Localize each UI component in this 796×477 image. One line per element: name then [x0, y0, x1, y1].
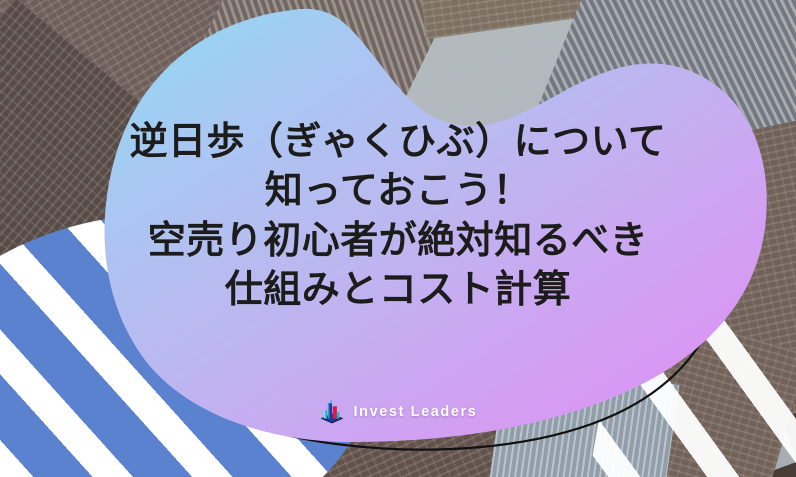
- page-title: 逆日歩（ぎゃくひぶ）について 知っておこう！ 空売り初心者が絶対知るべき 仕組み…: [0, 118, 796, 316]
- brand-name: Invest Leaders: [354, 404, 478, 420]
- headline-line-3: 空売り初心者が絶対知るべき: [40, 217, 756, 266]
- thumbnail-canvas: 逆日歩（ぎゃくひぶ）について 知っておこう！ 空売り初心者が絶対知るべき 仕組み…: [0, 0, 796, 477]
- brand-logo[interactable]: Invest Leaders: [0, 399, 796, 425]
- headline-line-2: 知っておこう！: [40, 167, 756, 216]
- headline-line-1: 逆日歩（ぎゃくひぶ）について: [40, 118, 756, 167]
- headline-line-4: 仕組みとコスト計算: [40, 266, 756, 315]
- skyscraper-building-icon: [319, 399, 345, 425]
